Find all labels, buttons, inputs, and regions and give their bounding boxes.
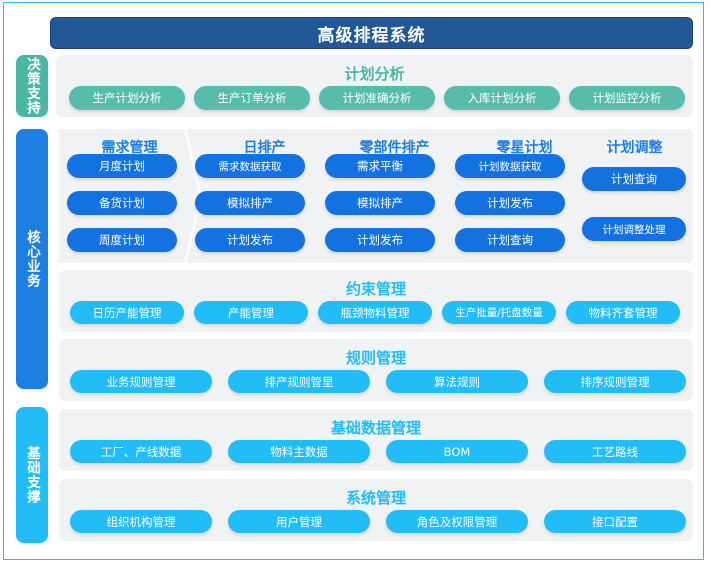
group-title-system-management: 系统管理 xyxy=(59,487,693,508)
btn-bottleneck-material-management[interactable]: 瓶颈物料管理 xyxy=(318,301,432,324)
btn-process-route[interactable]: 工艺路线 xyxy=(544,440,686,463)
btn-business-rule-management[interactable]: 业务规则管理 xyxy=(70,370,212,393)
band-label-decision-support: 决策支持 xyxy=(16,55,48,117)
btn-plan-query[interactable]: 计划查询 xyxy=(582,167,686,191)
btn-production-batch-pallet-qty[interactable]: 生产批量/托盘数量 xyxy=(442,301,556,324)
group-title-constraint-management: 约束管理 xyxy=(59,278,693,299)
btn-factory-line-data[interactable]: 工厂、产线数据 xyxy=(70,440,212,463)
btn-sequencing-rule-management[interactable]: 排序规则管理 xyxy=(544,370,686,393)
btn-interface-config[interactable]: 接口配置 xyxy=(544,510,686,533)
btn-parts-plan-release[interactable]: 计划发布 xyxy=(325,228,435,252)
btn-sporadic-plan-query[interactable]: 计划查询 xyxy=(455,228,565,252)
btn-production-order-analysis[interactable]: 生产订单分析 xyxy=(194,86,310,110)
btn-plan-data-fetch[interactable]: 计划数据获取 xyxy=(455,154,565,178)
flow-column-plan-adjustment: 计划调整 xyxy=(576,129,693,263)
btn-algorithm-rule[interactable]: 算法规则 xyxy=(386,370,528,393)
flow-column-title: 计划调整 xyxy=(576,137,693,157)
band-label-core-business: 核心业务 xyxy=(16,129,48,389)
btn-demand-balance[interactable]: 需求平衡 xyxy=(325,154,435,178)
btn-weekly-plan[interactable]: 周度计划 xyxy=(67,228,177,252)
btn-simulated-scheduling[interactable]: 模拟排产 xyxy=(195,191,305,215)
btn-material-master-data[interactable]: 物料主数据 xyxy=(228,440,370,463)
btn-plan-accuracy-analysis[interactable]: 计划准确分析 xyxy=(319,86,435,110)
btn-calendar-capacity-management[interactable]: 日历产能管理 xyxy=(70,301,184,324)
btn-plan-monitor-analysis[interactable]: 计划监控分析 xyxy=(569,86,685,110)
btn-plan-adjustment-process[interactable]: 计划调整处理 xyxy=(582,217,686,241)
btn-monthly-plan[interactable]: 月度计划 xyxy=(67,154,177,178)
btn-production-plan-analysis[interactable]: 生产计划分析 xyxy=(69,86,185,110)
btn-scheduling-rule-management[interactable]: 排产规则管里 xyxy=(228,370,370,393)
group-title-plan-analysis: 计划分析 xyxy=(56,63,693,84)
system-title-bar: 高级排程系统 xyxy=(50,17,693,49)
btn-stocking-plan[interactable]: 备货计划 xyxy=(67,191,177,215)
btn-sporadic-plan-release[interactable]: 计划发布 xyxy=(455,191,565,215)
btn-parts-simulated-scheduling[interactable]: 模拟排产 xyxy=(325,191,435,215)
btn-organization-management[interactable]: 组织机构管理 xyxy=(70,510,212,533)
btn-capacity-management[interactable]: 产能管理 xyxy=(194,301,308,324)
btn-bom[interactable]: BOM xyxy=(386,440,528,463)
btn-inbound-plan-analysis[interactable]: 入库计划分析 xyxy=(444,86,560,110)
btn-plan-release[interactable]: 计划发布 xyxy=(195,228,305,252)
btn-role-permission-management[interactable]: 角色及权限管理 xyxy=(386,510,528,533)
group-title-master-data-management: 基础数据管理 xyxy=(59,417,693,438)
band-label-base-support: 基础支撑 xyxy=(16,407,48,543)
diagram-canvas: 高级排程系统 决策支持 核心业务 基础支撑 计划分析 生产计划分析 生产订单分析… xyxy=(3,2,704,560)
btn-material-kitting-management[interactable]: 物料齐套管理 xyxy=(566,301,680,324)
btn-user-management[interactable]: 用户管理 xyxy=(228,510,370,533)
group-title-rule-management: 规则管理 xyxy=(59,347,693,368)
btn-demand-data-fetch[interactable]: 需求数据获取 xyxy=(195,154,305,178)
